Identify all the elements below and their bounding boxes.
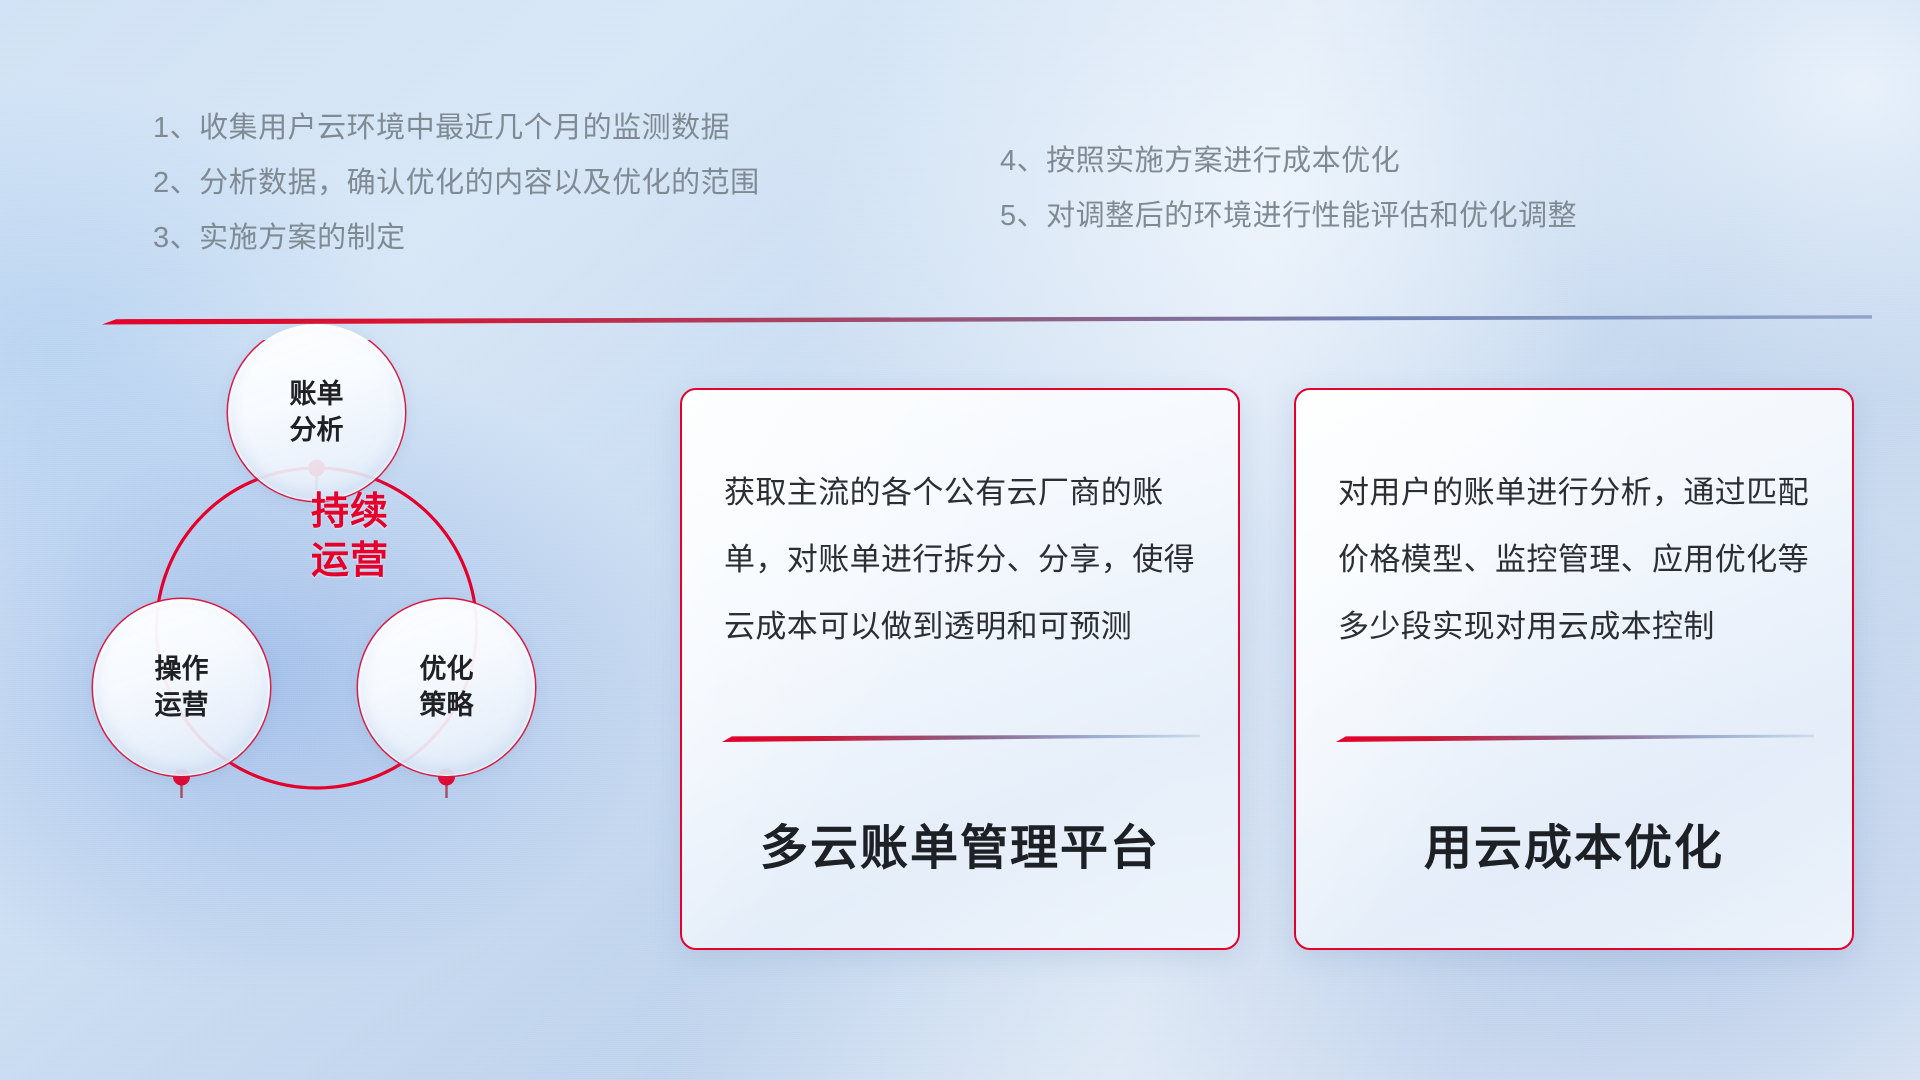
steps-list-left: 1、收集用户云环境中最近几个月的监测数据 2、分析数据，确认优化的内容以及优化的… — [153, 114, 760, 253]
bubble-label-line2: 运营 — [155, 688, 209, 723]
section-divider — [102, 313, 1872, 324]
steps-list-right: 4、按照实施方案进行成本优化 5、对调整后的环境进行性能评估和优化调整 — [1000, 147, 1577, 231]
diagram-bubble-operation-ops[interactable]: 操作 运营 — [93, 599, 270, 776]
card-title: 多云账单管理平台 — [682, 808, 1238, 878]
diagram-center-label: 持续 运营 — [260, 488, 440, 585]
step-item-4: 4、按照实施方案进行成本优化 — [1000, 147, 1577, 176]
card-rule-icon — [722, 734, 1200, 743]
diagram-bubble-optimization-policy[interactable]: 优化 策略 — [358, 599, 535, 776]
continuous-operation-diagram: 账单 分析 操作 运营 优化 策略 持续 运营 — [70, 340, 630, 940]
feature-card-multi-cloud-billing[interactable]: 获取主流的各个公有云厂商的账单，对账单进行拆分、分享，使得云成本可以做到透明和可… — [680, 388, 1240, 950]
step-item-2: 2、分析数据，确认优化的内容以及优化的范围 — [153, 169, 760, 198]
center-label-line2: 运营 — [260, 537, 440, 586]
card-body-text: 获取主流的各个公有云厂商的账单，对账单进行拆分、分享，使得云成本可以做到透明和可… — [724, 460, 1198, 661]
bubble-label-line1: 操作 — [155, 652, 209, 687]
step-item-5: 5、对调整后的环境进行性能评估和优化调整 — [1000, 202, 1577, 231]
card-accent-rule — [1336, 730, 1814, 739]
diagram-bubble-bill-analysis[interactable]: 账单 分析 — [228, 324, 405, 501]
card-body-text: 对用户的账单进行分析，通过匹配价格模型、监控管理、应用优化等多少段实现对用云成本… — [1338, 460, 1812, 661]
bubble-label-line1: 优化 — [420, 652, 474, 687]
divider-line-icon — [102, 315, 1872, 326]
feature-card-cloud-cost-optimization[interactable]: 对用户的账单进行分析，通过匹配价格模型、监控管理、应用优化等多少段实现对用云成本… — [1294, 388, 1854, 950]
bubble-label-line2: 策略 — [420, 688, 474, 723]
step-item-1: 1、收集用户云环境中最近几个月的监测数据 — [153, 114, 760, 143]
card-rule-icon — [1336, 734, 1814, 743]
card-accent-rule — [722, 730, 1200, 739]
card-title: 用云成本优化 — [1296, 808, 1852, 878]
step-item-3: 3、实施方案的制定 — [153, 224, 760, 253]
center-label-line1: 持续 — [260, 488, 440, 537]
bubble-label-line2: 分析 — [290, 413, 344, 448]
bubble-label-line1: 账单 — [290, 377, 344, 412]
